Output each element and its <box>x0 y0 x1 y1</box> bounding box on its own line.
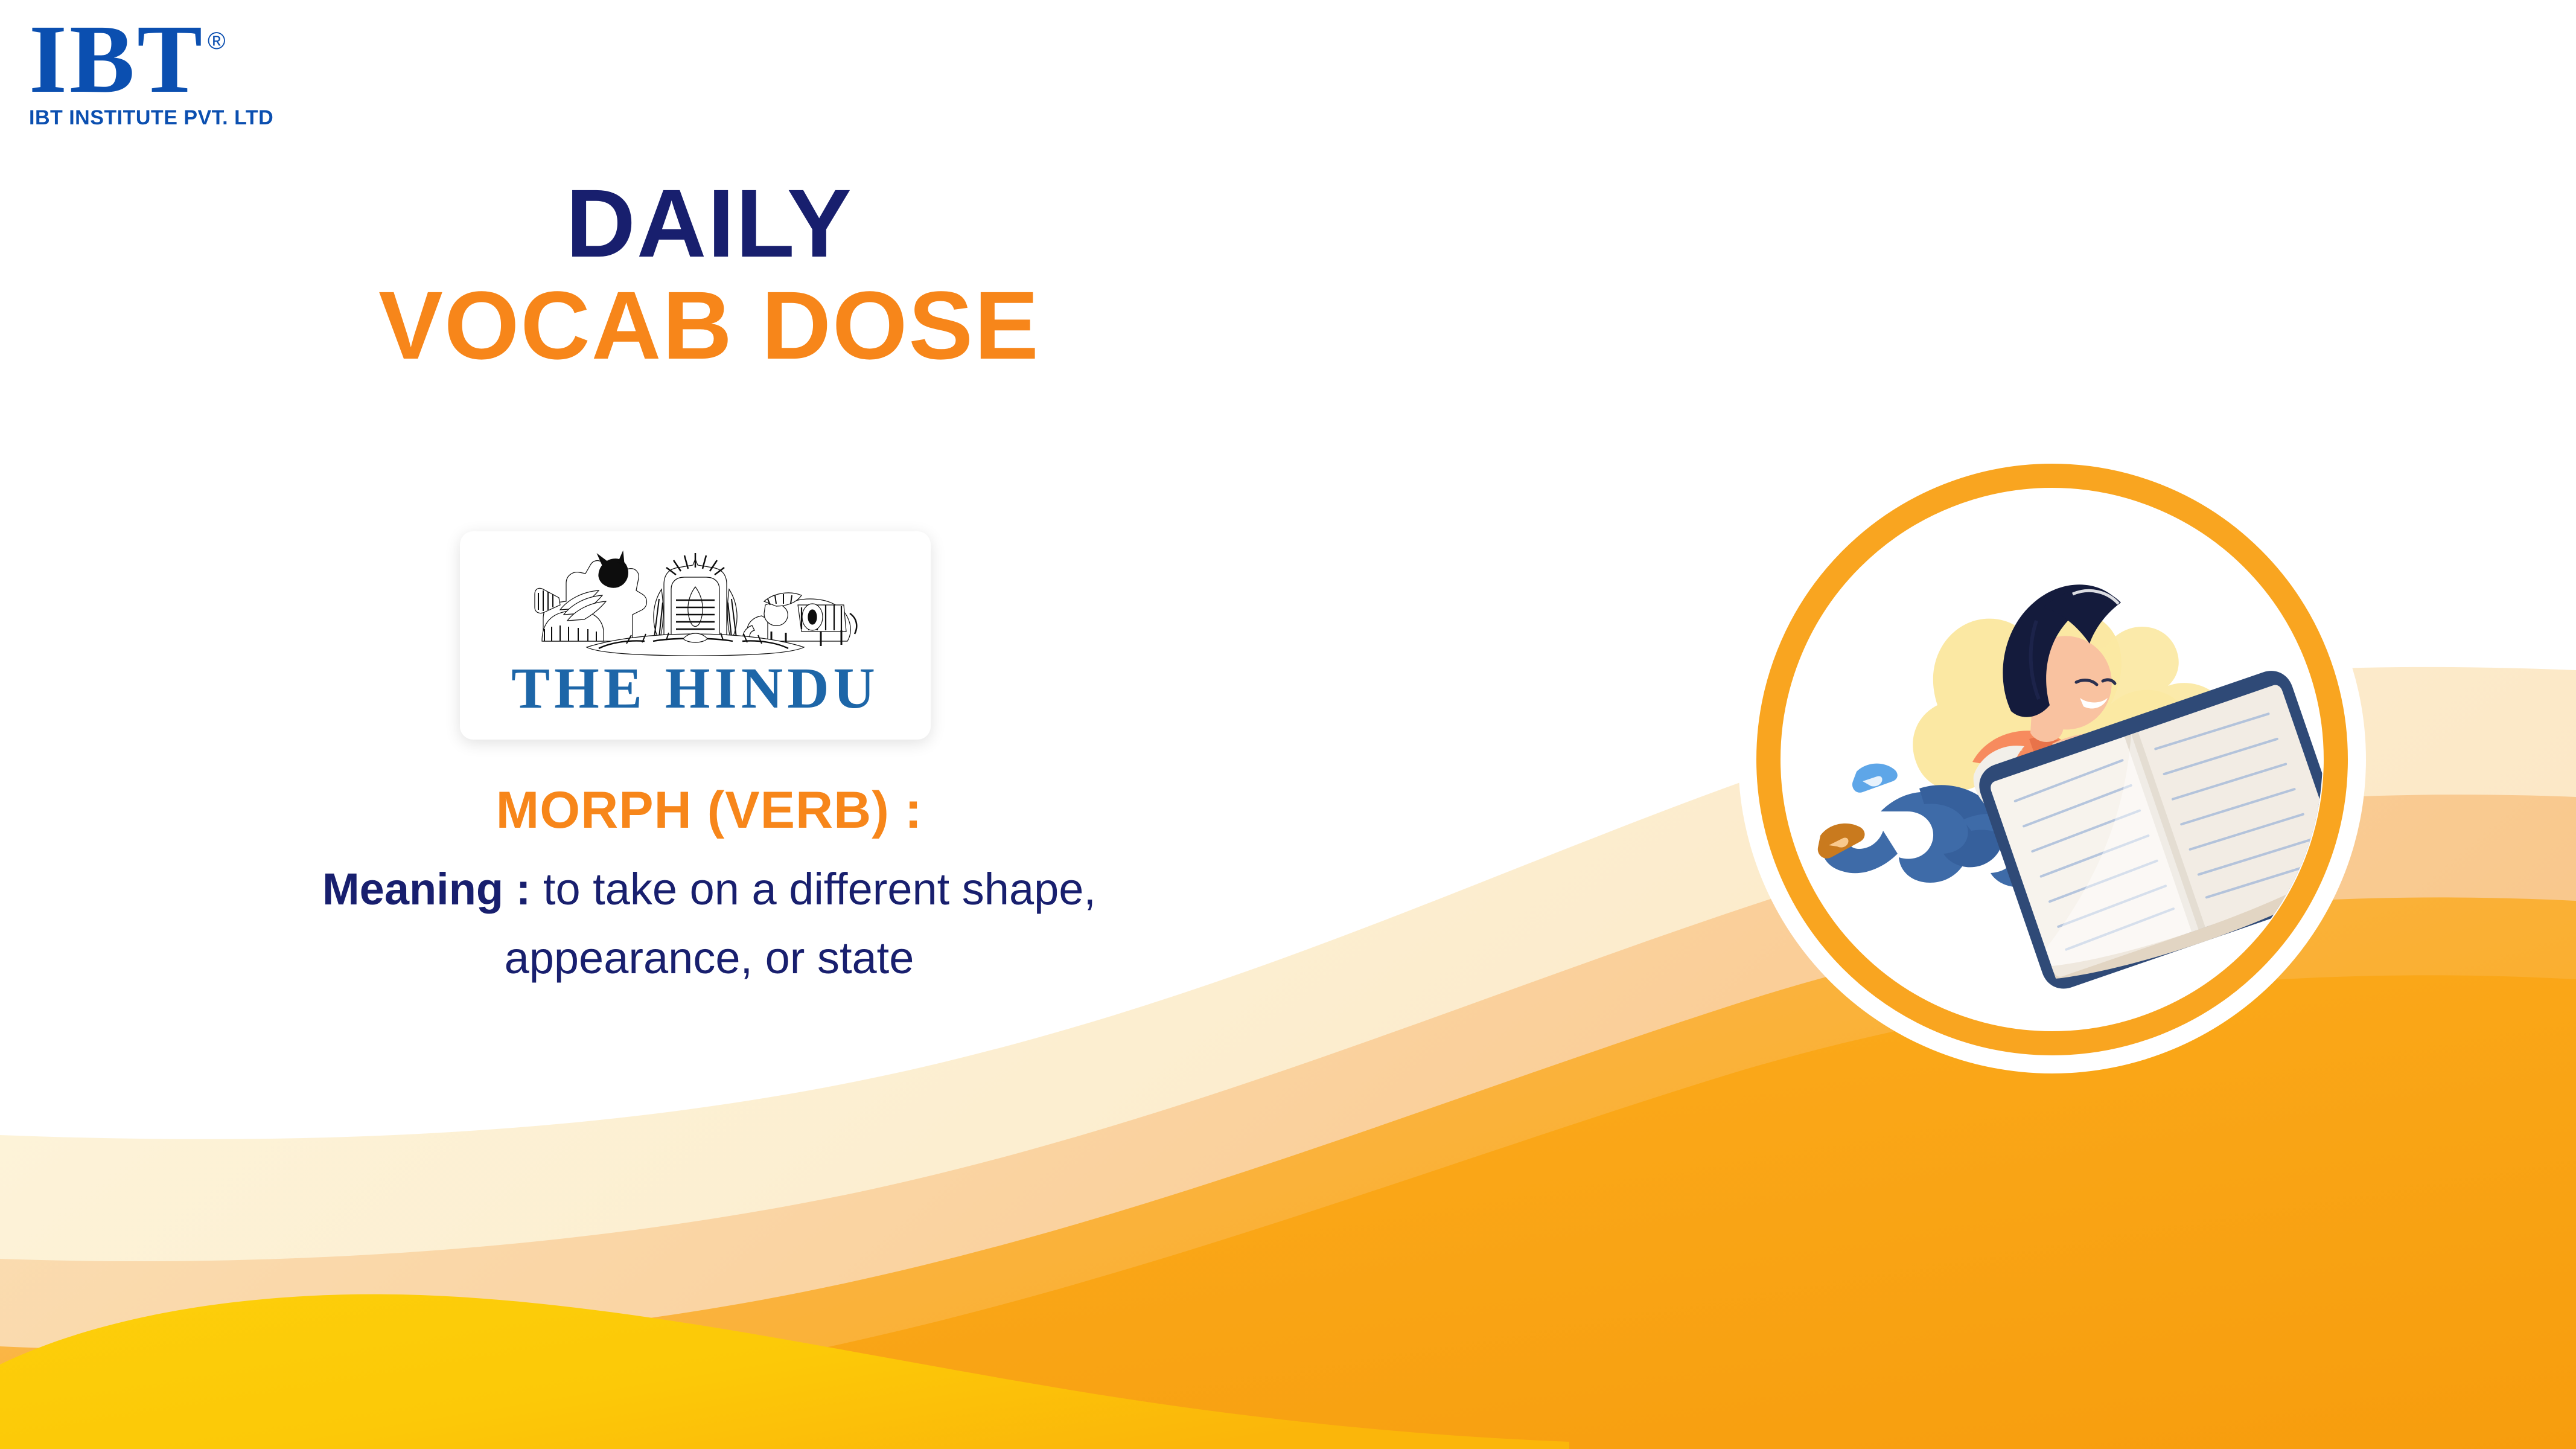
ibt-logo: IBT ® IBT INSTITUTE PVT. LTD <box>29 11 252 126</box>
meaning-label: Meaning : <box>322 864 543 914</box>
title-line-daily: DAILY <box>338 175 1080 272</box>
source-logo-card: THE HINDU <box>460 531 931 740</box>
reading-illustration <box>1738 446 2366 1073</box>
registered-trademark-icon: ® <box>208 28 225 55</box>
ibt-logo-wordmark: IBT <box>29 14 205 105</box>
ibt-logo-subtitle: IBT INSTITUTE PVT. LTD <box>29 106 273 130</box>
the-hindu-masthead-emblem-icon <box>508 547 882 656</box>
vocabulary-meaning: Meaning : to take on a different shape, … <box>205 855 1213 993</box>
the-hindu-wordmark: THE HINDU <box>460 659 931 717</box>
poster-canvas: IBT ® IBT INSTITUTE PVT. LTD DAILY VOCAB… <box>0 0 2576 1449</box>
meaning-definition-text: to take on a different shape, appearance… <box>505 864 1096 983</box>
title-line-vocab-dose: VOCAB DOSE <box>338 272 1080 379</box>
page-title: DAILY VOCAB DOSE <box>338 175 1080 379</box>
vocabulary-term: MORPH (VERB) : <box>205 779 1213 842</box>
vocabulary-block: MORPH (VERB) : Meaning : to take on a di… <box>205 779 1213 993</box>
